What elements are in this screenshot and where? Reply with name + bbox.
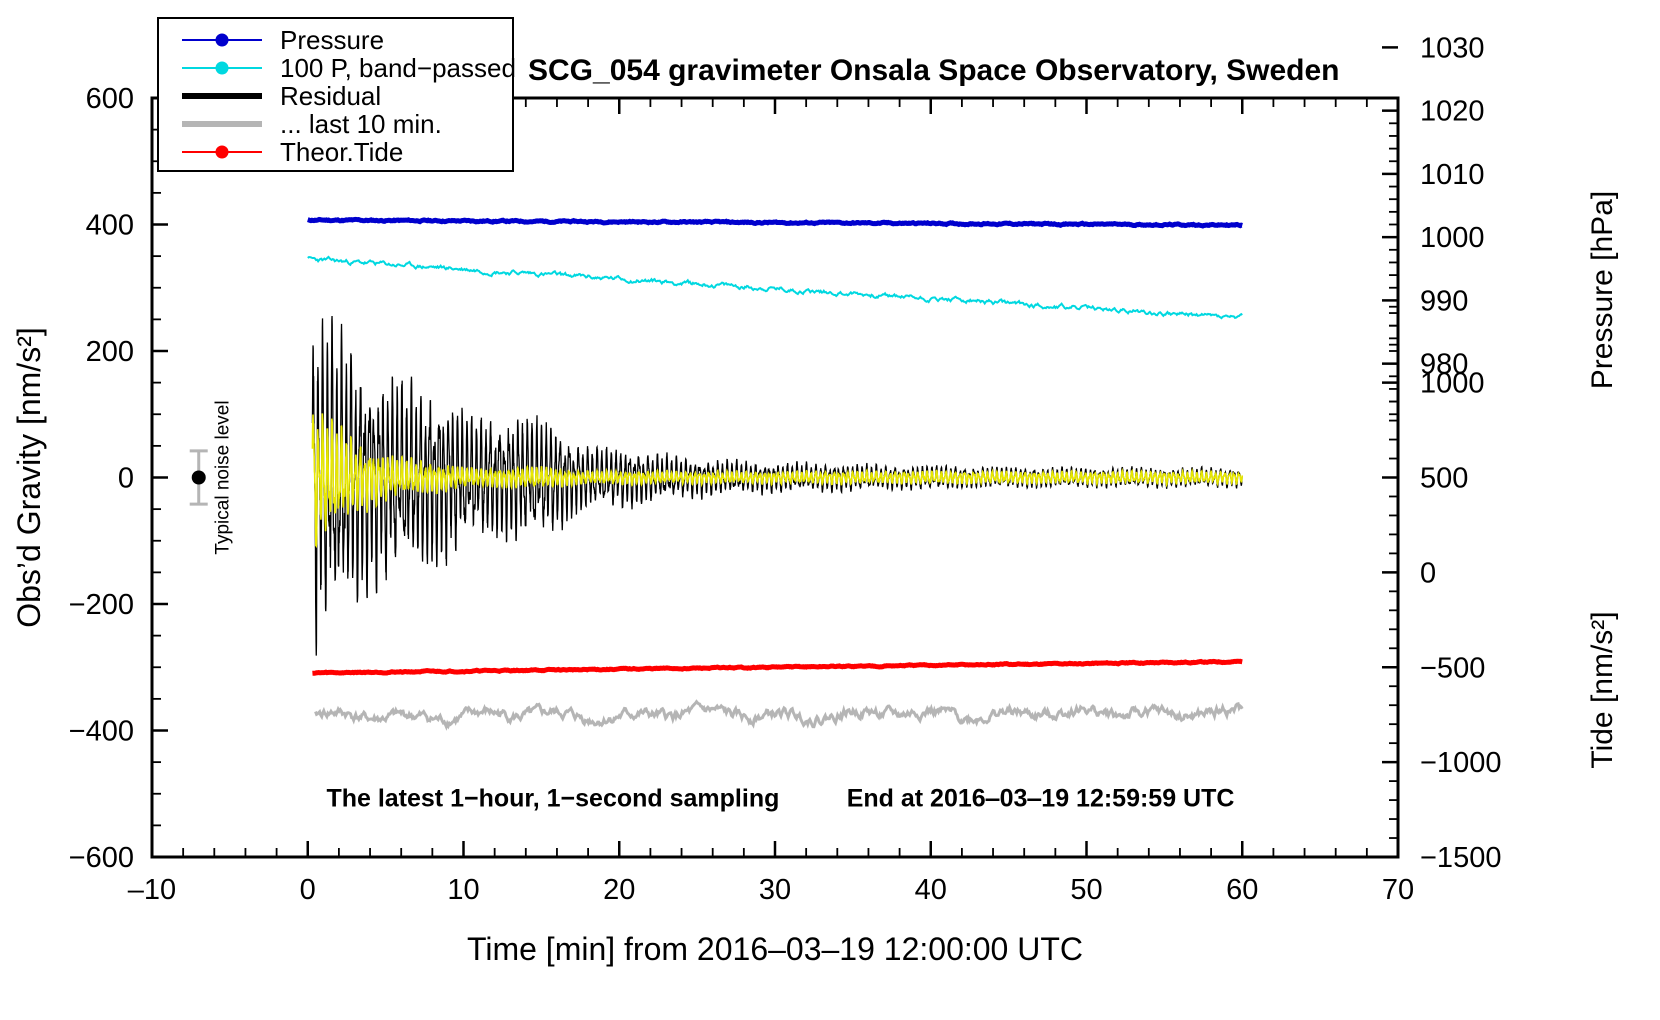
pressure-axis-title: Pressure [hPa] [1586,191,1619,389]
tide-axis-title: Tide [nm/s²] [1586,611,1619,768]
pressure-tick-label: 990 [1420,285,1468,317]
x-tick-label: 0 [300,874,316,906]
x-tick-label: 50 [1070,874,1102,906]
y-tick-label: −200 [69,589,134,621]
pressure-tick-label: 1000 [1420,222,1485,254]
chart-legend: Pressure100 P, band−passedResidual... la… [158,18,516,171]
tide-tick-label: 500 [1420,463,1468,495]
legend-swatch-dot [216,62,229,75]
noise-level-label: Typical noise level [213,400,234,554]
noise-center-dot [192,471,206,485]
x-tick-label: 30 [759,874,791,906]
end-time-note: End at 2016‒03‒19 12:59:59 UTC [847,784,1235,812]
pressure-tick-label: 1030 [1420,32,1485,64]
y-tick-label: 600 [86,83,134,115]
gravimeter-plot: Typical noise level ‒10010203040506070−6… [0,0,1660,1020]
legend-label: 100 P, band−passed [280,53,516,83]
x-tick-label: 70 [1382,874,1414,906]
y-axis-title: Obs’d Gravity [nm/s²] [11,327,47,628]
y-tick-label: 0 [118,463,134,495]
y-tick-label: 400 [86,210,134,242]
tide-tick-label: 1000 [1420,368,1485,400]
x-tick-label: 60 [1226,874,1258,906]
x-tick-label: 40 [915,874,947,906]
legend-label: Pressure [280,25,384,55]
pressure-tick-label: 1010 [1420,159,1485,191]
y-tick-label: −600 [69,842,134,874]
chart-title: SCG_054 gravimeter Onsala Space Observat… [528,54,1340,87]
tide-tick-label: −1500 [1420,842,1501,874]
tide-tick-label: −500 [1420,652,1485,684]
legend-label: Theor.Tide [280,137,403,167]
chart-canvas: Typical noise level ‒10010203040506070−6… [0,0,1660,1020]
legend-swatch-dot [216,34,229,47]
x-tick-label: 20 [603,874,635,906]
x-tick-label: 10 [447,874,479,906]
x-axis-title: Time [min] from 2016‒03‒19 12:00:00 UTC [467,931,1083,967]
x-tick-label: ‒10 [128,874,176,906]
pressure-tick-label: 1020 [1420,96,1485,128]
y-tick-label: −400 [69,716,134,748]
y-tick-label: 200 [86,336,134,368]
tide-tick-label: 0 [1420,557,1436,589]
sampling-note: The latest 1−hour, 1−second sampling [326,784,779,812]
legend-label: ... last 10 min. [280,109,442,139]
legend-label: Residual [280,81,381,111]
legend-swatch-dot [216,146,229,159]
tide-tick-label: −1000 [1420,747,1501,779]
